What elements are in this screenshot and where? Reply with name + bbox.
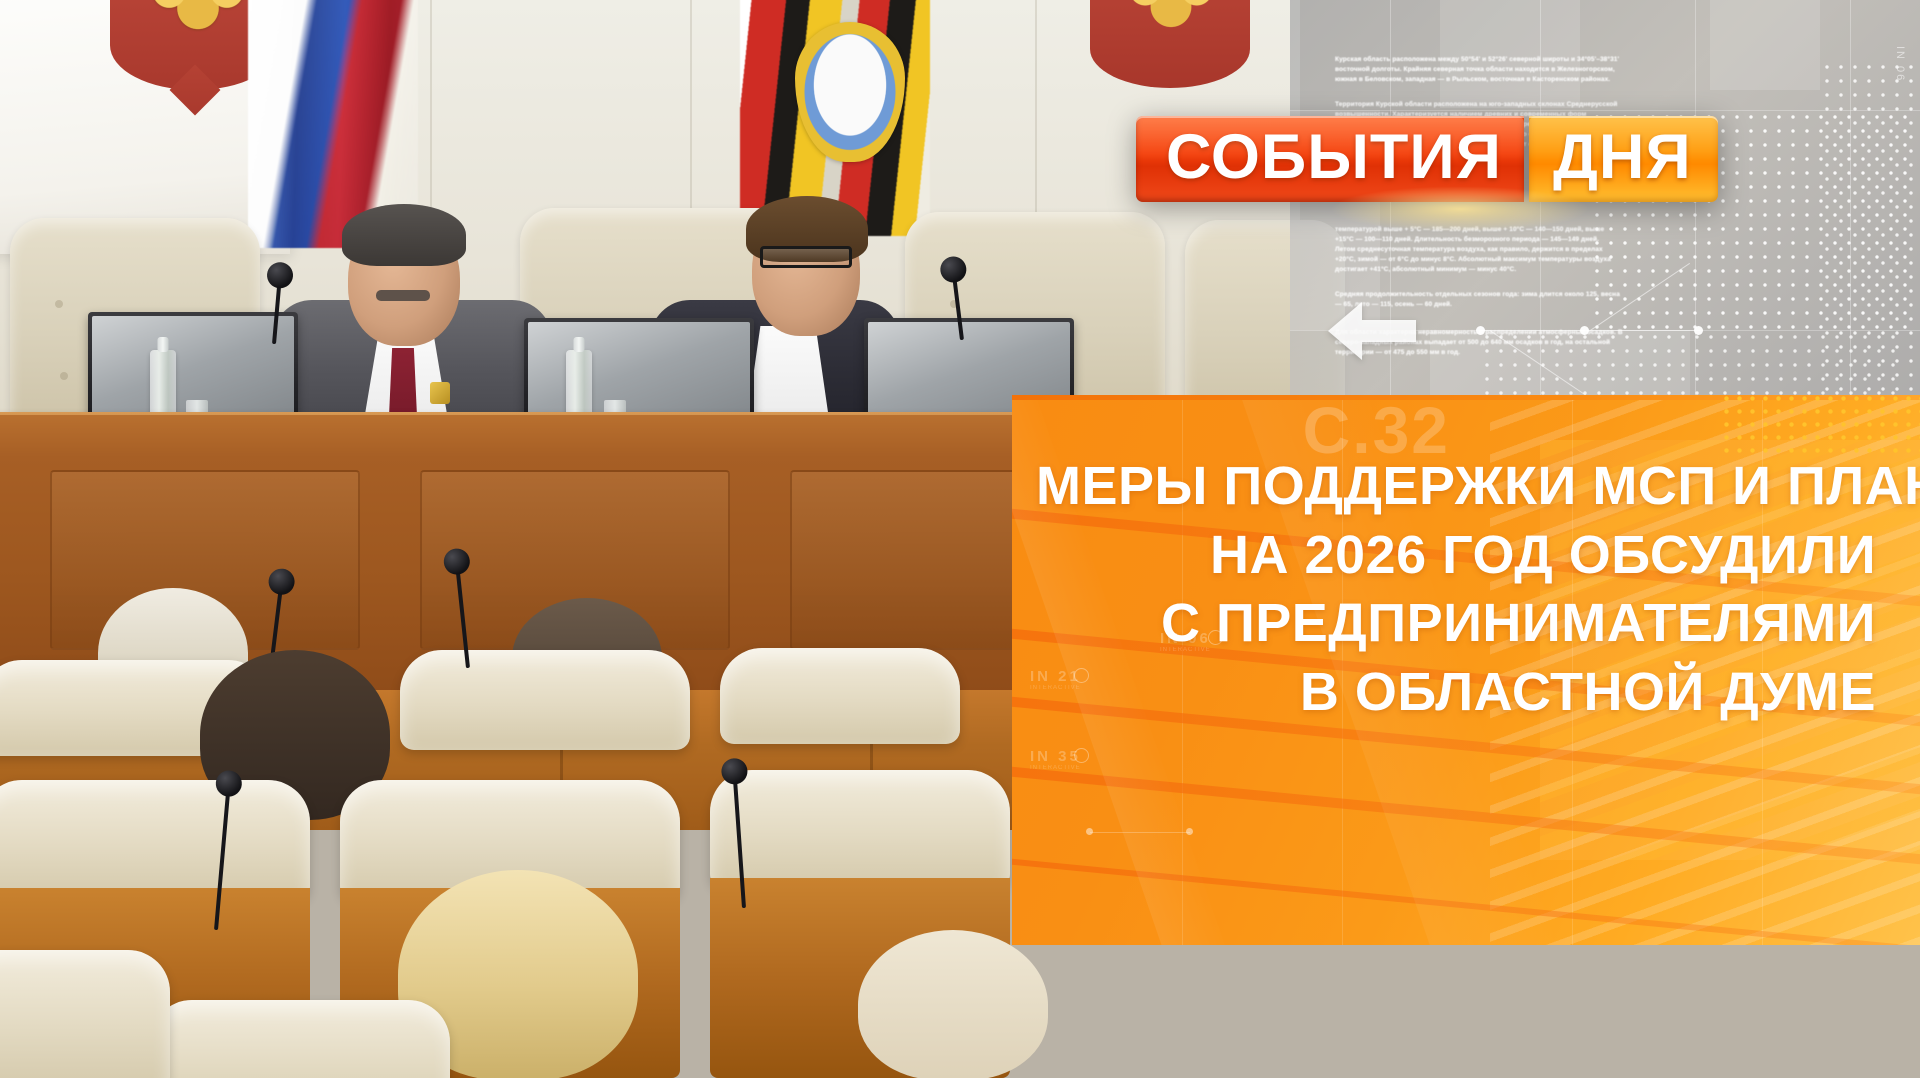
dot-matrix [1820, 60, 1920, 420]
logo-part-sobytiya: СОБЫТИЯ [1136, 116, 1524, 202]
logo-text-dnya: ДНЯ [1553, 127, 1692, 189]
double-headed-eagle-icon-right [1125, 0, 1217, 34]
speaker-left-moustache [376, 290, 430, 301]
headline-line-2: НА 2026 ГОД ОБСУДИЛИ [1036, 521, 1876, 590]
headline-text: МЕРЫ ПОДДЕРЖКИ МСП И ПЛАНЫ НА 2026 ГОД О… [1036, 452, 1876, 726]
deputy-badge [430, 382, 450, 404]
arrow-left-icon [1328, 300, 1416, 362]
amber-dot-matrix [1720, 392, 1920, 458]
channel-logo: СОБЫТИЯ ДНЯ [1136, 116, 1718, 202]
headline-line-1: МЕРЫ ПОДДЕРЖКИ МСП И ПЛАНЫ [1036, 452, 1876, 521]
audience-seat [150, 1000, 450, 1078]
plate-paragraph-1: Курская область расположена между 50°54'… [1335, 55, 1620, 85]
audience-seat [720, 648, 960, 744]
audience-seat [0, 950, 170, 1078]
logo-part-dnya: ДНЯ [1529, 116, 1718, 202]
double-headed-eagle-icon [150, 0, 246, 38]
headline-line-3: С ПРЕДПРИНИМАТЕЛЯМИ [1036, 589, 1876, 658]
gfx-block [1710, 0, 1820, 90]
speaker-left-hair [342, 204, 466, 266]
headline-banner: C.32 IN 06 INTERACTIVE IN 21 INTERACTIVE… [1012, 400, 1920, 945]
audience-head [858, 930, 1048, 1078]
eyeglasses-icon [760, 246, 852, 268]
gfx-block [1440, 0, 1580, 108]
audience-seat [0, 780, 310, 900]
headline-ring [1074, 748, 1089, 763]
broadcast-screenshot: Курская область расположена между 50°54'… [0, 0, 1920, 1078]
headline-line-4: В ОБЛАСТНОЙ ДУМЕ [1036, 658, 1876, 727]
chair-tuft [55, 300, 63, 308]
audience-seat [400, 650, 690, 750]
headline-code-in35: IN 35 INTERACTIVE [1030, 748, 1081, 771]
desk-panel [790, 470, 1030, 650]
audience-seat [710, 770, 1010, 888]
plate-paragraph-3: температурой выше + 5°С — 185—200 дней, … [1335, 225, 1620, 275]
chair-tuft [60, 372, 68, 380]
logo-text-sobytiya: СОБЫТИЯ [1166, 127, 1502, 189]
